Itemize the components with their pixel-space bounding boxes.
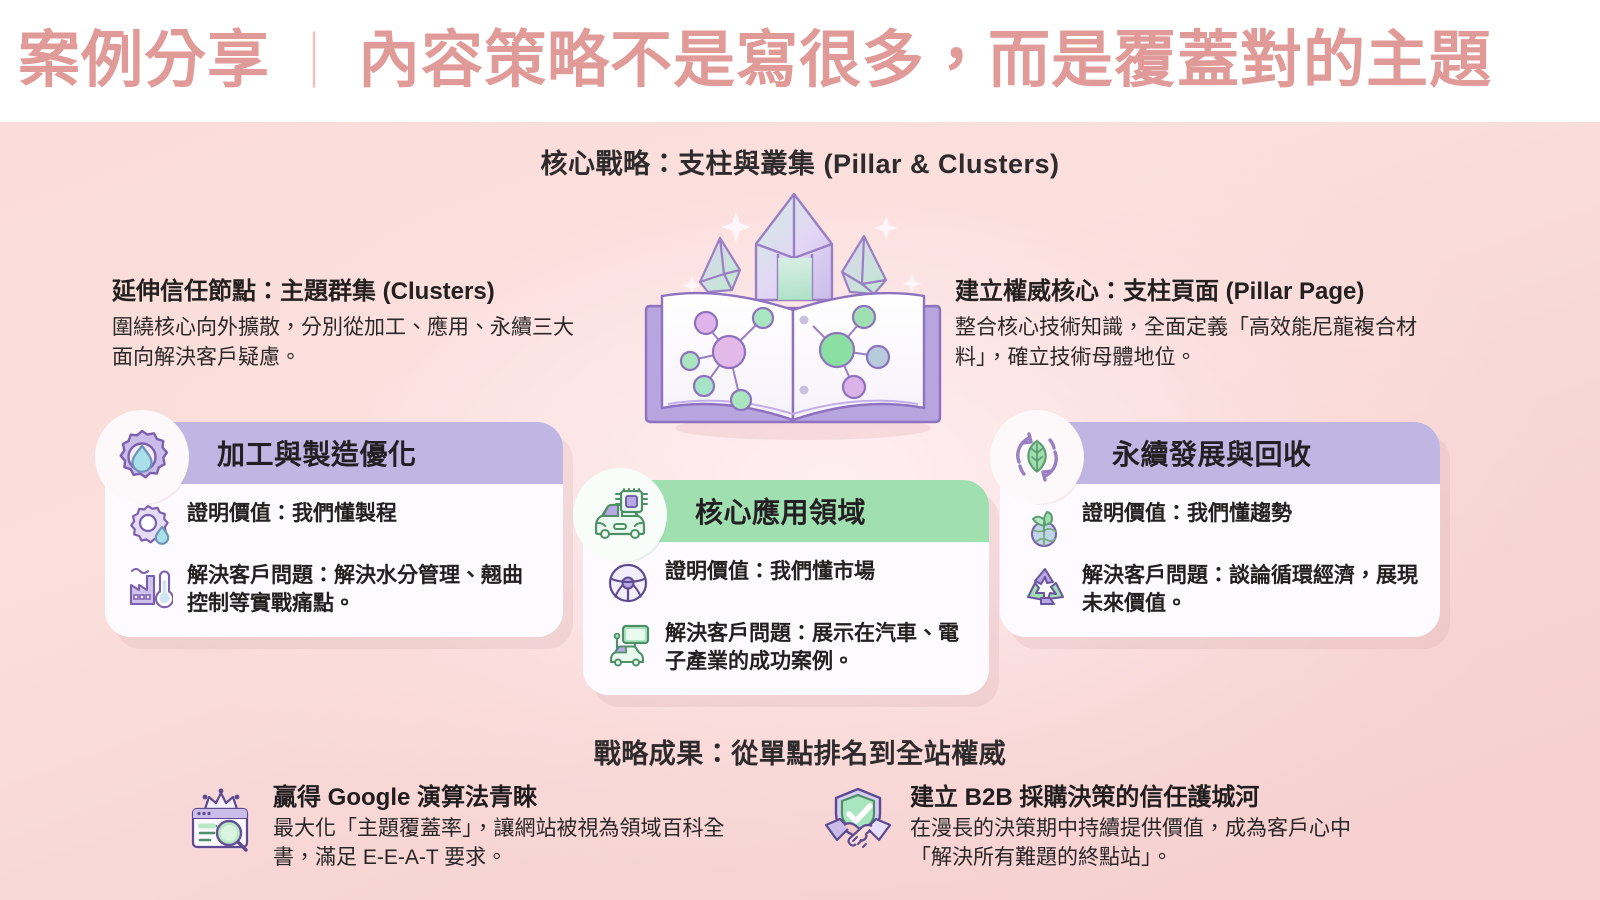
outcome-google-title: 贏得 Google 演算法青睞 <box>273 777 745 812</box>
outcome-moat-title: 建立 B2B 採購決策的信任護城河 <box>910 777 1382 812</box>
header-title-group: 案例分享 ｜ 內容策略不是寫很多，而是覆蓋對的主題 <box>0 30 1492 92</box>
clusters-description-block: 延伸信任節點：主題群集 (Clusters) 圍繞核心向外擴散，分別從加工、應用… <box>112 277 582 373</box>
bullet-text: 解決客戶問題：談論循環經濟，展現未來價值。 <box>1082 562 1420 619</box>
bullet-item: 解決客戶問題：談論循環經濟，展現未來價值。 <box>1022 562 1420 619</box>
outcome-item-google: 贏得 Google 演算法青睞 最大化「主題覆蓋率」，讓網站被視為領域百科全書，… <box>185 777 745 872</box>
bullet-text: 解決客戶問題：展示在汽車、電子產業的成功案例。 <box>665 620 969 677</box>
bullet-text: 證明價值：我們懂市場 <box>665 558 875 586</box>
bullet-text: 證明價值：我們懂趨勢 <box>1082 500 1292 528</box>
bullet-item: 證明價值：我們懂趨勢 <box>1022 500 1420 548</box>
leaf-recycle-badge <box>994 414 1080 500</box>
outcome-item-trust-moat: 建立 B2B 採購決策的信任護城河 在漫長的決策期中持續提供價值，成為客戶心中「… <box>822 777 1382 872</box>
bullet-item: 證明價值：我們懂市場 <box>605 558 969 606</box>
gear-water-drop-badge <box>99 414 185 500</box>
card-sustain-body: 證明價值：我們懂趨勢 解決客戶問題：談論循環經濟， <box>1000 484 1440 637</box>
car-chip-badge <box>577 472 663 558</box>
header-label: 案例分享 <box>18 30 270 92</box>
outcome-heading: 戰略成果：從單點排名到全站權威 <box>0 732 1600 771</box>
gear-droplet-icon <box>127 502 173 548</box>
card-core-application[interactable]: 核心應用領域 證明價值：我們懂市場 <box>583 480 989 695</box>
bullet-text: 解決客戶問題：解決水分管理、翹曲控制等實戰痛點。 <box>187 562 543 619</box>
steering-wheel-icon <box>605 560 651 606</box>
infographic-root: 案例分享 ｜ 內容策略不是寫很多，而是覆蓋對的主題 核心戰略：支柱與叢集 (Pi… <box>0 0 1600 900</box>
core-strategy-heading: 核心戰略：支柱與叢集 (Pillar & Clusters) <box>0 142 1600 181</box>
infographic-canvas: 核心戰略：支柱與叢集 (Pillar & Clusters) <box>0 122 1600 900</box>
outcome-moat-body: 在漫長的決策期中持續提供價值，成為客戶心中「解決所有難題的終點站」。 <box>910 815 1382 872</box>
open-book-crystals-illustration <box>628 184 958 444</box>
crown-browser-search-icon <box>185 781 257 853</box>
pillar-title: 建立權威核心：支柱頁面 (Pillar Page) <box>955 277 1425 307</box>
card-processing-body: 證明價值：我們懂製程 <box>105 484 563 637</box>
outcome-google-body: 最大化「主題覆蓋率」，讓網站被視為領域百科全書，滿足 E-E-A-T 要求。 <box>273 815 745 872</box>
card-application-body: 證明價值：我們懂市場 <box>583 542 989 695</box>
bullet-item: 證明價值：我們懂製程 <box>127 500 543 548</box>
pillar-description-block: 建立權威核心：支柱頁面 (Pillar Page) 整合核心技術知識，全面定義「… <box>955 277 1425 373</box>
recycle-icon <box>1022 564 1068 610</box>
monitor-car-icon <box>605 622 651 668</box>
clusters-body: 圍繞核心向外擴散，分別從加工、應用、永續三大面向解決客戶疑慮。 <box>112 313 582 373</box>
card-processing-title: 加工與製造優化 <box>217 433 417 473</box>
shield-handshake-icon <box>822 781 894 853</box>
factory-thermometer-icon <box>127 564 173 610</box>
bullet-item: 解決客戶問題：解決水分管理、翹曲控制等實戰痛點。 <box>127 562 543 619</box>
pillar-body: 整合核心技術知識，全面定義「高效能尼龍複合材料」，確立技術母體地位。 <box>955 313 1425 373</box>
bullet-text: 證明價值：我們懂製程 <box>187 500 397 528</box>
header-separator: ｜ <box>270 34 358 90</box>
clusters-title: 延伸信任節點：主題群集 (Clusters) <box>112 277 582 307</box>
outcome-google-text: 贏得 Google 演算法青睞 最大化「主題覆蓋率」，讓網站被視為領域百科全書，… <box>273 777 745 872</box>
page-title: 內容策略不是寫很多，而是覆蓋對的主題 <box>358 30 1492 92</box>
sprout-globe-icon <box>1022 502 1068 548</box>
card-processing-optimization[interactable]: 加工與製造優化 證明價值：我們懂製程 <box>105 422 563 637</box>
outcome-moat-text: 建立 B2B 採購決策的信任護城河 在漫長的決策期中持續提供價值，成為客戶心中「… <box>910 777 1382 872</box>
card-application-title: 核心應用領域 <box>695 491 866 531</box>
bullet-item: 解決客戶問題：展示在汽車、電子產業的成功案例。 <box>605 620 969 677</box>
card-sustainability-recycling[interactable]: 永續發展與回收 證明價值：我們懂趨勢 <box>1000 422 1440 637</box>
page-header: 案例分享 ｜ 內容策略不是寫很多，而是覆蓋對的主題 <box>0 0 1600 122</box>
card-sustain-title: 永續發展與回收 <box>1112 433 1312 473</box>
